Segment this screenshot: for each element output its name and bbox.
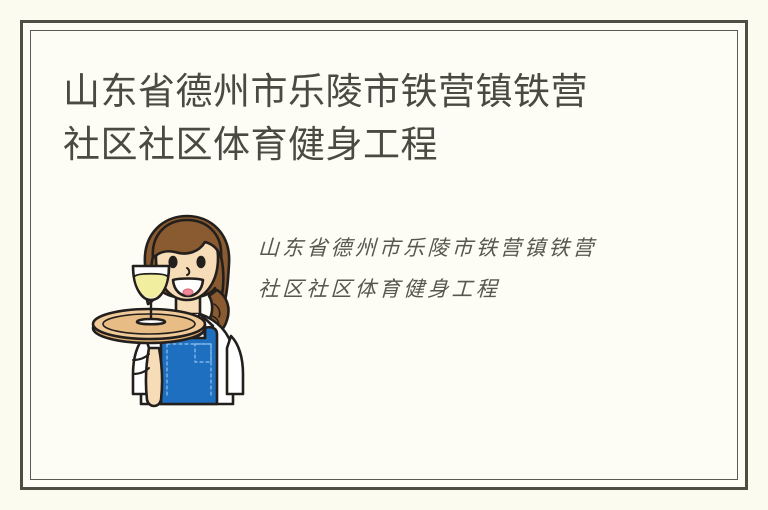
poster-card: 山东省德州市乐陵市铁营镇铁营 社区社区体育健身工程 [20, 20, 748, 490]
page-title-line-2: 社区社区体育健身工程 [63, 118, 663, 171]
page-title-line-1: 山东省德州市乐陵市铁营镇铁营 [63, 65, 663, 118]
handwritten-caption: 山东省德州市乐陵市铁营镇铁营 社区社区体育健身工程 [258, 228, 698, 310]
waitress-illustration [83, 208, 263, 413]
page-title: 山东省德州市乐陵市铁营镇铁营 社区社区体育健身工程 [63, 65, 663, 171]
content-row: 山东省德州市乐陵市铁营镇铁营 社区社区体育健身工程 [43, 206, 725, 426]
handwritten-caption-line-2: 社区社区体育健身工程 [257, 269, 698, 310]
poster-card-inner-border: 山东省德州市乐陵市铁营镇铁营 社区社区体育健身工程 [30, 30, 738, 480]
handwritten-caption-line-1: 山东省德州市乐陵市铁营镇铁营 [257, 228, 698, 269]
